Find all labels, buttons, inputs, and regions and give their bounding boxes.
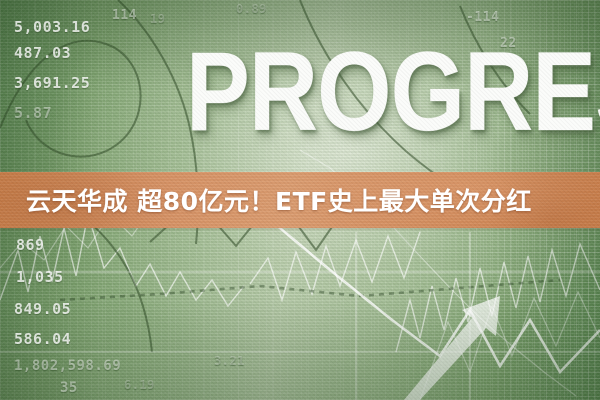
headline-text: 云天华成 超80亿元！ETF史上最大单次分红 bbox=[26, 182, 532, 218]
thumbnail-canvas: 5,003.16487.033,691.255.87114-11422190.8… bbox=[0, 0, 600, 400]
headline-banner: 云天华成 超80亿元！ETF史上最大单次分红 bbox=[0, 172, 600, 228]
